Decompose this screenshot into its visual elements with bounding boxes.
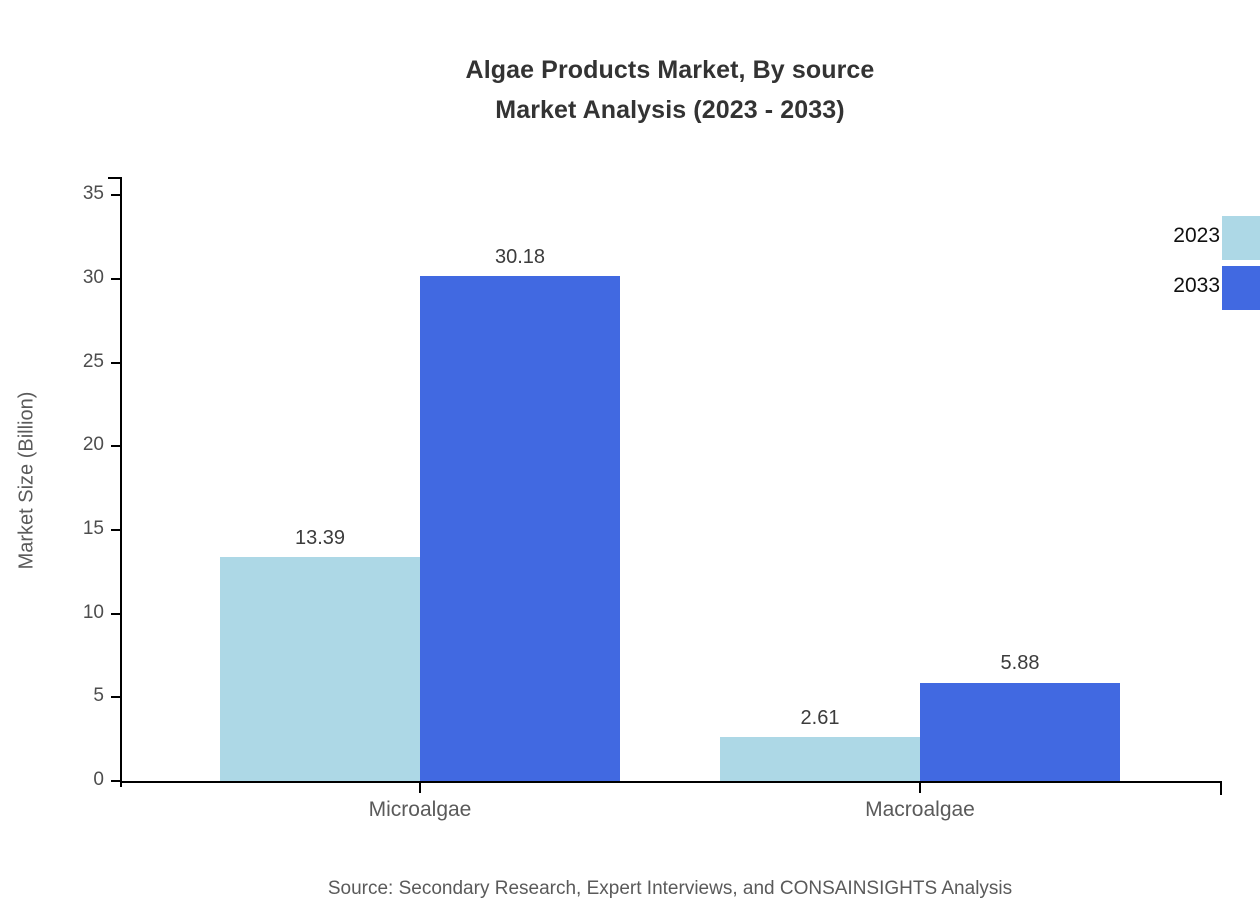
bar-macroalgae-2023[interactable] [720, 737, 920, 781]
bar-value-macroalgae-2023: 2.61 [690, 707, 950, 730]
legend-swatch-2023 [1222, 216, 1260, 260]
y-tick-label-20: 20 [0, 434, 104, 456]
bar-value-microalgae-2023: 13.39 [190, 527, 450, 550]
chart-title-line-2: Market Analysis (2023 - 2033) [0, 90, 1260, 130]
y-tick-15 [111, 529, 122, 531]
bar-microalgae-2033[interactable] [420, 276, 620, 781]
legend-swatch-2033 [1222, 266, 1260, 310]
chart-title: Algae Products Market, By source Market … [0, 50, 1260, 130]
y-tick-35 [111, 194, 122, 196]
x-tick-label-macroalgae: Macroalgae [760, 798, 1080, 822]
y-tick-label-5: 5 [0, 685, 104, 707]
x-tick-microalgae [419, 782, 421, 793]
y-tick-label-10: 10 [0, 602, 104, 624]
y-tick-label-25: 25 [0, 351, 104, 373]
x-tick-label-microalgae: Microalgae [260, 798, 580, 822]
chart-legend: 2023 2033 [1132, 214, 1260, 314]
source-note: Source: Secondary Research, Expert Inter… [0, 878, 1260, 900]
y-tick-label-15: 15 [0, 518, 104, 540]
y-tick-20 [111, 445, 122, 447]
x-axis-spine [120, 781, 1222, 783]
y-tick-0 [111, 780, 122, 782]
y-axis-top-cap [108, 177, 122, 179]
plot-area: 0 5 10 15 20 25 30 35 Microalgae Macroal… [122, 178, 1222, 782]
bar-microalgae-2023[interactable] [220, 557, 420, 781]
y-tick-30 [111, 278, 122, 280]
y-tick-5 [111, 696, 122, 698]
bar-macroalgae-2033[interactable] [920, 683, 1120, 781]
legend-label-2033: 2033 [1173, 274, 1220, 298]
chart-figure: Algae Products Market, By source Market … [0, 0, 1260, 920]
chart-title-line-1: Algae Products Market, By source [0, 50, 1260, 90]
x-tick-macroalgae [919, 782, 921, 793]
y-tick-label-30: 30 [0, 267, 104, 289]
y-tick-10 [111, 613, 122, 615]
legend-item-2023[interactable]: 2023 [1132, 214, 1260, 264]
bar-value-macroalgae-2033: 5.88 [890, 652, 1150, 675]
y-tick-label-35: 35 [0, 183, 104, 205]
y-tick-25 [111, 362, 122, 364]
legend-item-2033[interactable]: 2033 [1132, 264, 1260, 314]
y-axis-label-text: Market Size (Billion) [16, 391, 39, 569]
legend-label-2023: 2023 [1173, 224, 1220, 248]
y-tick-label-0: 0 [0, 769, 104, 791]
x-axis-right-cap [1220, 781, 1222, 795]
bar-value-microalgae-2033: 30.18 [390, 246, 650, 269]
